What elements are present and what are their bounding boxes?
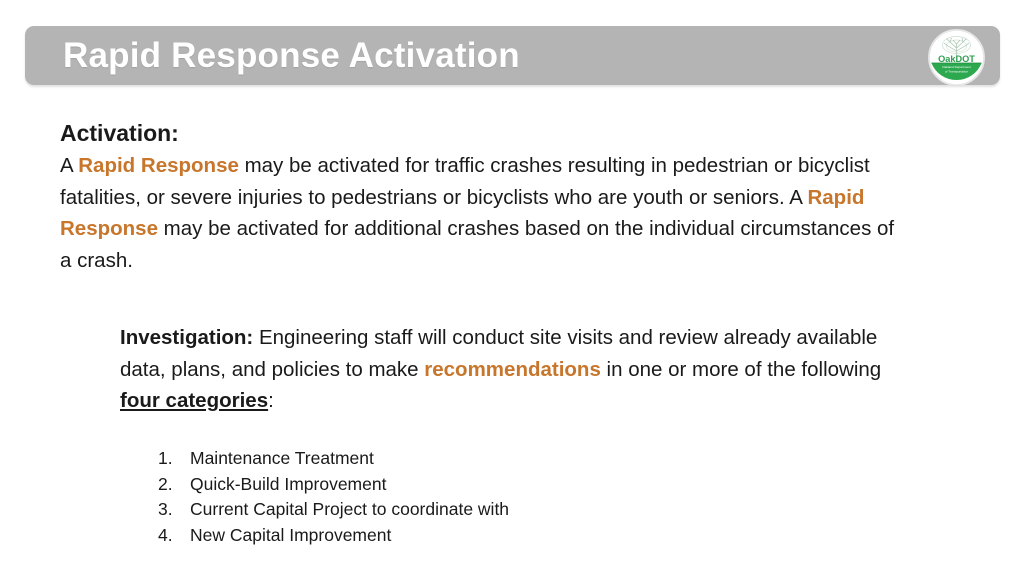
list-item: 3. Current Capital Project to coordinate…	[158, 497, 509, 523]
activation-block: Activation: A Rapid Response may be acti…	[60, 118, 910, 276]
four-categories-emphasis: four categories	[120, 389, 268, 412]
investigation-block: Investigation: Engineering staff will co…	[120, 322, 910, 417]
list-item-number: 1.	[158, 446, 190, 472]
list-item-number: 4.	[158, 523, 190, 549]
categories-list: 1. Maintenance Treatment 2. Quick-Build …	[158, 446, 509, 548]
list-item: 1. Maintenance Treatment	[158, 446, 509, 472]
list-item: 2. Quick-Build Improvement	[158, 472, 509, 498]
page-title: Rapid Response Activation	[63, 36, 520, 76]
list-item-label: Quick-Build Improvement	[190, 472, 386, 498]
list-item-label: New Capital Improvement	[190, 523, 391, 549]
oakdot-logo: OakDOT Oakland Department of Transportat…	[928, 29, 985, 86]
activation-text-3: may be activated for additional crashes …	[60, 217, 894, 272]
list-item: 4. New Capital Improvement	[158, 523, 509, 549]
list-item-label: Current Capital Project to coordinate wi…	[190, 497, 509, 523]
activation-text-1: A	[60, 154, 78, 177]
activation-heading: Activation:	[60, 118, 910, 148]
activation-paragraph: A Rapid Response may be activated for tr…	[60, 150, 910, 276]
slide: Rapid Response Activation	[0, 0, 1024, 576]
investigation-label: Investigation:	[120, 326, 253, 349]
list-item-number: 3.	[158, 497, 190, 523]
investigation-paragraph: Investigation: Engineering staff will co…	[120, 322, 910, 417]
rapid-response-highlight-1: Rapid Response	[78, 154, 239, 177]
list-item-number: 2.	[158, 472, 190, 498]
list-item-label: Maintenance Treatment	[190, 446, 374, 472]
svg-text:OakDOT: OakDOT	[938, 54, 975, 64]
svg-text:of Transportation: of Transportation	[945, 69, 968, 73]
title-bar: Rapid Response Activation	[25, 26, 1000, 85]
recommendations-highlight: recommendations	[424, 358, 601, 381]
investigation-text-2: in one or more of the following	[601, 358, 881, 381]
investigation-text-3: :	[268, 389, 274, 412]
